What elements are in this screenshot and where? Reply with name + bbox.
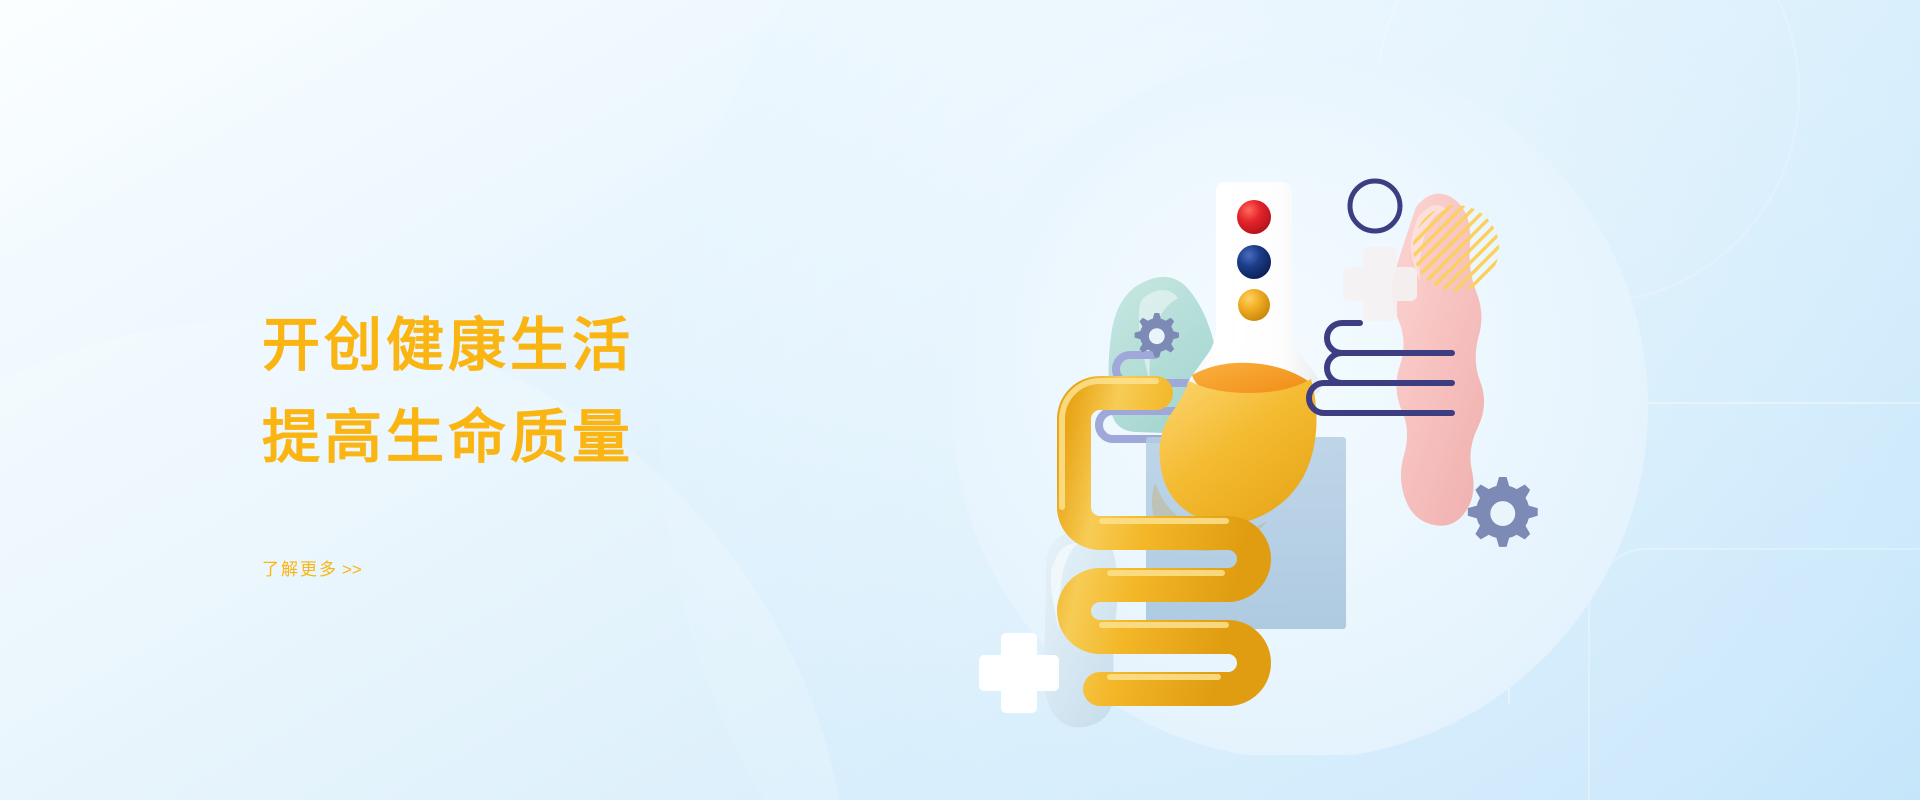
hero-banner: 开创健康生活 提高生命质量 了解更多>> <box>0 0 1920 800</box>
headline-line-1: 开创健康生活 <box>262 300 882 392</box>
hero-copy-block: 开创健康生活 提高生命质量 了解更多>> <box>262 300 882 580</box>
headline-line-2: 提高生命质量 <box>262 392 882 484</box>
gear-large-icon <box>1468 477 1538 547</box>
chevron-right-icon: >> <box>342 560 362 579</box>
sphere-amber <box>1238 289 1270 321</box>
gear-small-icon <box>1135 313 1179 357</box>
learn-more-label: 了解更多 <box>262 560 338 579</box>
sphere-navy <box>1237 245 1271 279</box>
digestive-system-illustration <box>950 55 1650 755</box>
sphere-red <box>1237 200 1271 234</box>
page-title: 开创健康生活 提高生命质量 <box>262 300 882 483</box>
learn-more-link[interactable]: 了解更多>> <box>262 555 362 580</box>
